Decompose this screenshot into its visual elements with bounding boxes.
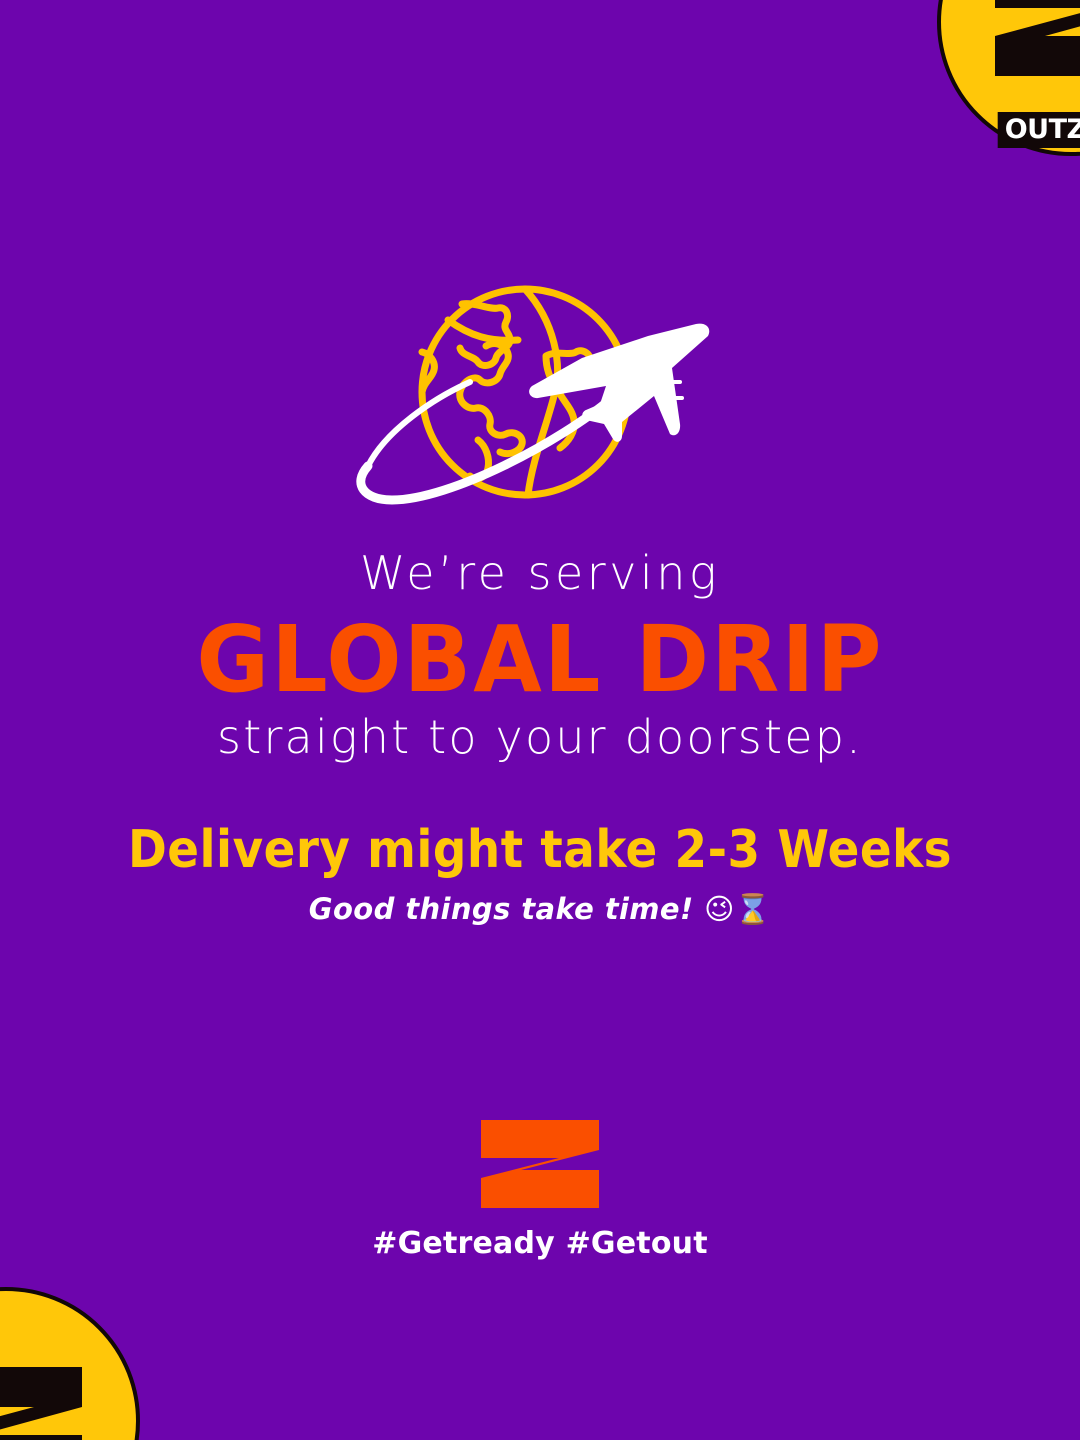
delivery-headline: Delivery might take 2-3 Weeks [0,822,1080,878]
badge-z-mark-bottom-left [0,1361,90,1440]
outzidr-badge-bottom-left: OUTZIDR · OUTZIDR · OUTZIDR · OUTZIDR · … [0,1287,140,1440]
poster-canvas: OUTZIDR · OUTZIDR · OUTZIDR · OUTZIDR · … [0,0,1080,1440]
badge-wordmark-top-right: OUTZIDR [998,112,1080,148]
headline-kicker: We’re serving [0,548,1080,600]
outzidr-badge-top-right: OUTZIDR · OUTZIDR · OUTZIDR · OUTZIDR · … [937,0,1080,156]
headline-tail: straight to your doorstep. [0,712,1080,764]
footer-tagline: #Getready #Getout [0,1226,1080,1261]
headline-main: GLOBAL DRIP [0,614,1080,706]
badge-z-mark-top-right [987,0,1080,82]
delivery-notice-block: Delivery might take 2-3 Weeks Good thing… [0,822,1080,926]
footer-brand-block: #Getready #Getout [0,1120,1080,1261]
wink-hourglass-emoji: 😉⌛ [704,892,771,926]
headline-copy-block: We’re serving GLOBAL DRIP straight to yo… [0,548,1080,763]
delivery-subline: Good things take time! 😉⌛ [0,894,1080,926]
globe-airplane-icon [350,270,730,520]
badge-ring-label: OUTZIDR · OUTZIDR · OUTZIDR · OUTZIDR · [0,1291,136,1296]
delivery-subline-text: Good things take time! [309,892,694,926]
outzidr-z-logo [479,1120,601,1208]
